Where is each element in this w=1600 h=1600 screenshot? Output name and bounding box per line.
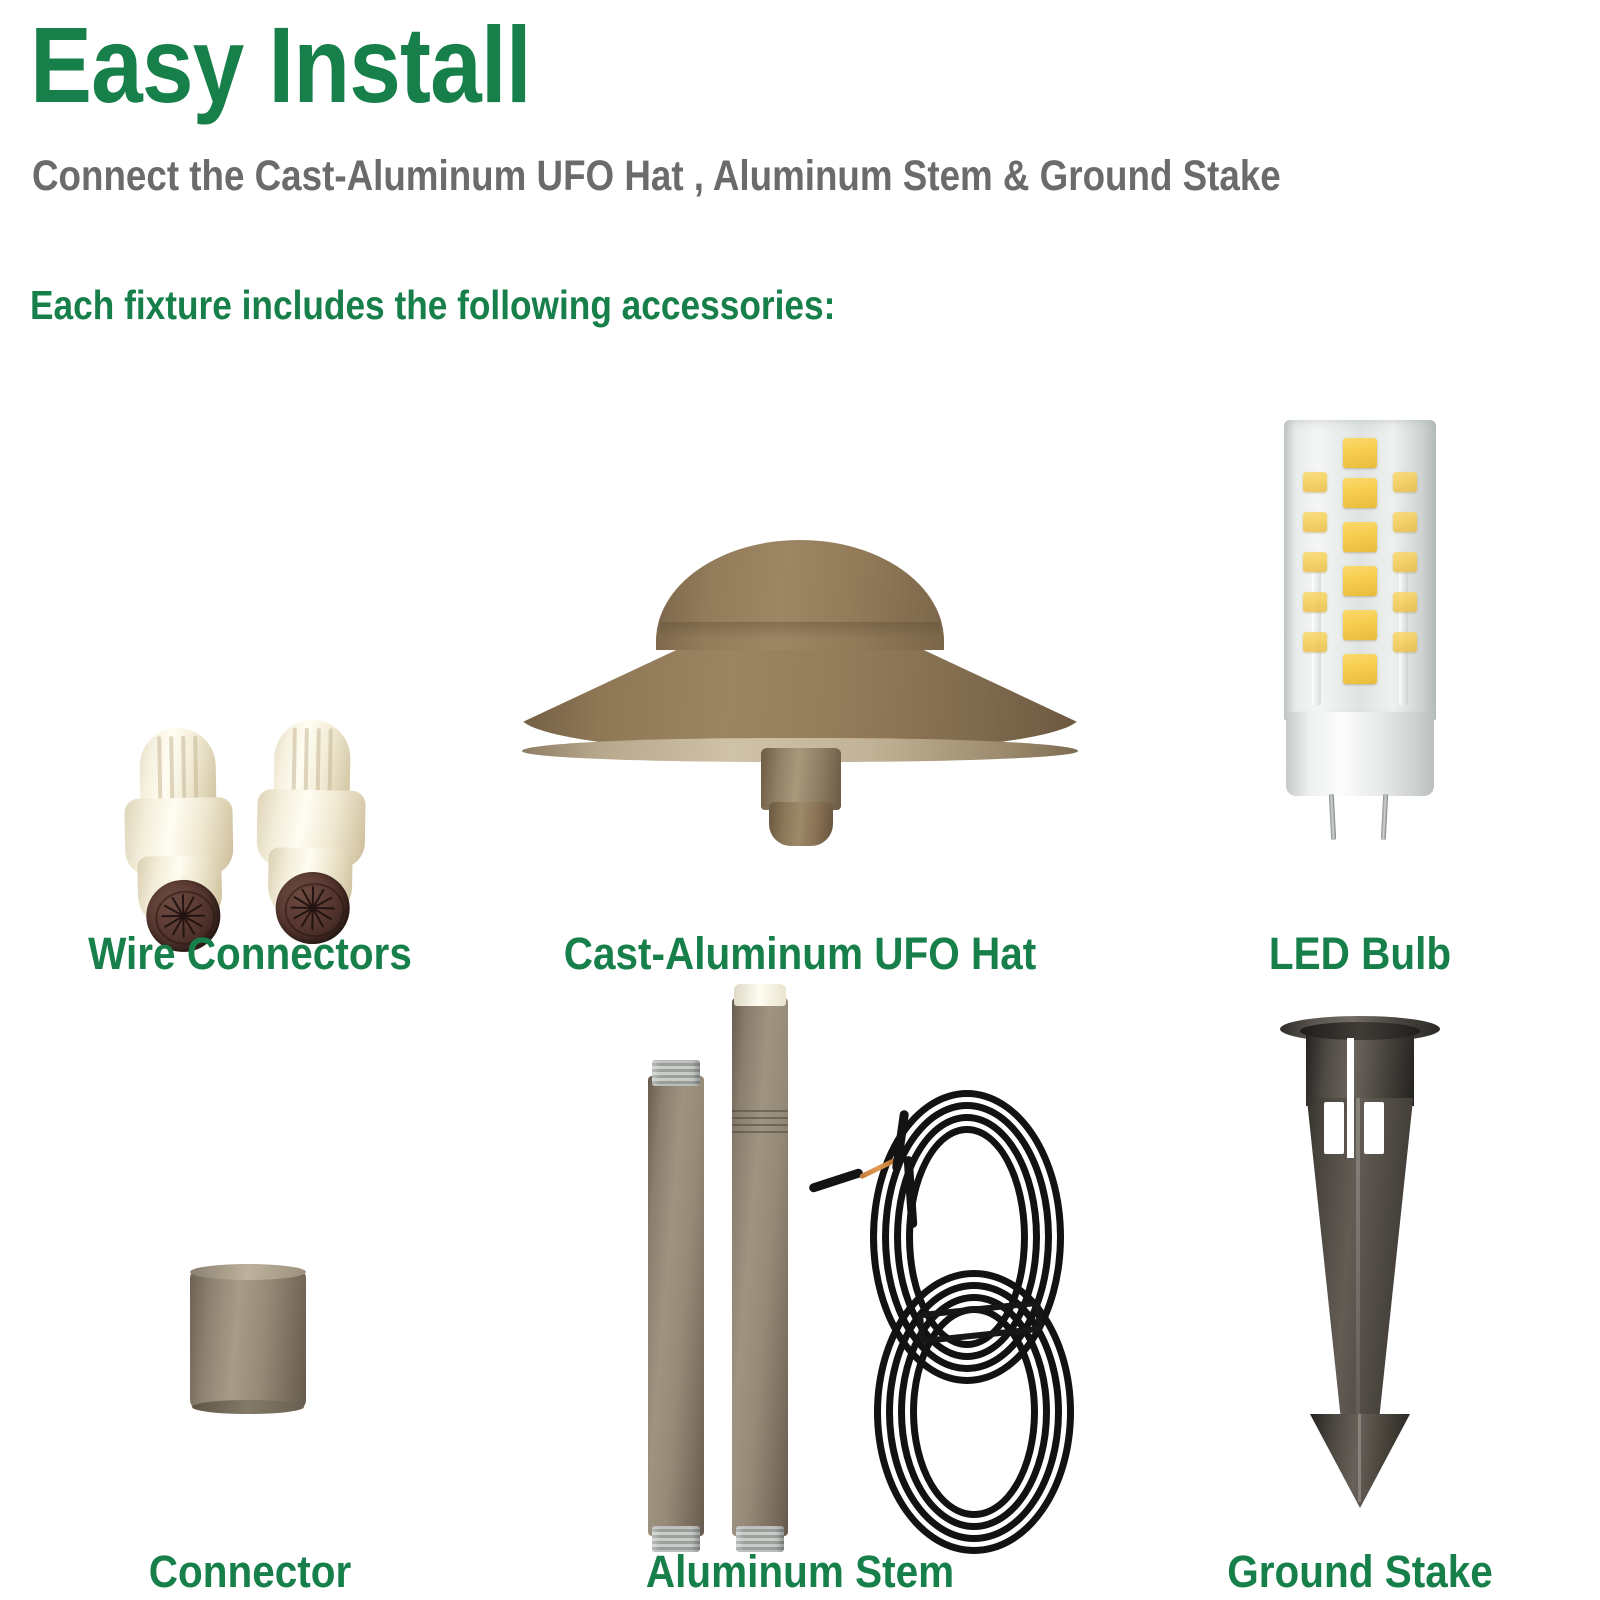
stem-thread-top	[652, 1060, 700, 1086]
section-heading: Each fixture includes the following acce…	[30, 282, 835, 329]
ufo-hat-illustration	[460, 480, 1140, 980]
accessory-aluminum-stem: Aluminum Stem	[460, 940, 1140, 1590]
ground-stake-illustration	[1140, 970, 1580, 1590]
bulb-pin	[1381, 794, 1388, 840]
stem-tube-left	[648, 1076, 704, 1536]
stake-barrel	[1306, 1030, 1414, 1106]
connector-icon	[190, 1270, 310, 1420]
stake-center-ridge	[1356, 1098, 1360, 1428]
accessory-connector: Connector	[40, 990, 460, 1590]
led-chip-column	[1388, 434, 1422, 706]
wire-lead-left	[808, 1168, 864, 1194]
led-chip-column	[1298, 434, 1332, 706]
aluminum-stem-illustration	[460, 940, 1140, 1590]
bulb-pin	[1329, 794, 1336, 840]
page-title: Easy Install	[30, 8, 531, 121]
connector-illustration	[40, 990, 460, 1590]
hat-dome-shadow	[660, 622, 940, 638]
caption-aluminum-stem: Aluminum Stem	[494, 1546, 1106, 1598]
wire-connector-left-icon	[123, 727, 235, 954]
accessory-ground-stake: Ground Stake	[1140, 970, 1580, 1590]
ground-stake-icon	[1250, 990, 1470, 1510]
hat-neck	[761, 748, 841, 810]
accessory-ufo-hat: Cast-Aluminum UFO Hat	[460, 480, 1140, 980]
ufo-hat-icon	[520, 510, 1080, 840]
caption-wire-connectors: Wire Connectors	[61, 928, 439, 980]
stake-tapered-body	[1290, 1098, 1430, 1428]
connector-tube	[190, 1270, 306, 1410]
accessories-grid: Wire Connectors Cast-Aluminum UFO Hat	[0, 370, 1600, 1600]
wire-connector-pair	[125, 720, 375, 955]
wire-connector-right-icon	[255, 719, 367, 946]
led-chip-column	[1343, 434, 1377, 706]
stake-collar-inner	[1300, 1022, 1420, 1040]
wire-coil	[800, 970, 1100, 1570]
bulb-frosted-base	[1286, 712, 1434, 796]
stake-slot	[1324, 1102, 1344, 1154]
connector-bottom-rim	[192, 1400, 304, 1414]
led-bulb-icon	[1260, 420, 1460, 840]
stake-slot	[1364, 1102, 1384, 1154]
page-subtitle: Connect the Cast-Aluminum UFO Hat , Alum…	[32, 152, 1281, 201]
hat-socket-tip	[769, 802, 833, 846]
connector-top-rim	[190, 1264, 306, 1280]
stem-tube-right	[732, 998, 788, 1536]
bulb-glass-housing	[1284, 420, 1436, 720]
wire-connectors-illustration	[40, 510, 460, 980]
stake-tip-ridge	[1358, 1414, 1361, 1502]
stem-white-cap	[734, 984, 786, 1006]
led-bulb-illustration	[1140, 390, 1580, 980]
stake-center-gap	[1347, 1038, 1354, 1158]
caption-ground-stake: Ground Stake	[1162, 1546, 1558, 1598]
stem-knurl-ribs	[732, 1110, 788, 1136]
accessory-wire-connectors: Wire Connectors	[40, 510, 460, 980]
accessory-led-bulb: LED Bulb	[1140, 390, 1580, 980]
aluminum-stem-icon	[460, 960, 1140, 1570]
caption-connector: Connector	[61, 1546, 439, 1598]
